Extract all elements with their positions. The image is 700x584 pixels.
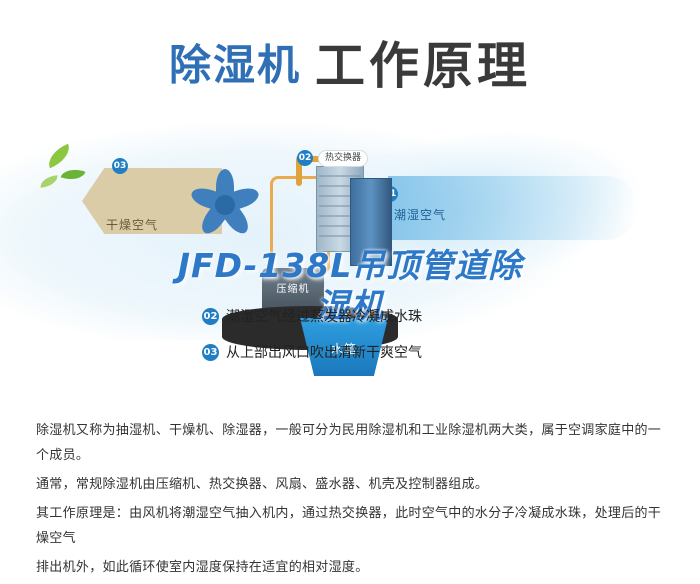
principle-diagram: 03 干燥空气 01 潮湿空气 [0,0,700,400]
caption-02-text: 潮湿空气经过蒸发器冷凝成水珠 [226,309,422,325]
heat-exchanger-tag: 热交换器 [318,150,368,167]
marker-03-badge: 03 [112,158,128,174]
fan-icon [186,165,264,243]
humid-air-label: 潮湿空气 [394,206,446,223]
leaf-icon [61,165,86,184]
caption-03-text: 从上部出风口吹出清新干爽空气 [226,345,422,361]
caption-03: 03从上部出风口吹出清新干爽空气 [202,342,422,362]
hero-illustration: 除湿机工作原理 03 干燥空气 01 潮湿空气 [0,0,700,400]
evaporator-icon [350,178,392,266]
caption-02: 02潮湿空气经过蒸发器冷凝成水珠 [202,306,422,326]
description-paragraph-1: 除湿机又称为抽湿机、干燥机、除湿器，一般可分为民用除湿机和工业除湿机两大类，属于… [36,418,666,468]
description-paragraph-3: 其工作原理是：由风机将潮湿空气抽入机内，通过热交换器，此时空气中的水分子冷凝成水… [36,501,666,551]
marker-02-badge: 02 [297,150,313,166]
description-paragraph-2: 通常，常规除湿机由压缩机、热交换器、风扇、盛水器、机壳及控制器组成。 [36,472,666,497]
compressor-label: 压缩机 [268,280,318,295]
description-paragraph-3-text: 由风机将潮湿空气抽入机内，通过热交换器，此时空气中的水分子冷凝成水珠，处理后的干… [36,506,661,546]
caption-03-badge: 03 [202,344,219,361]
caption-02-badge: 02 [202,308,219,325]
leaf-icon [40,175,59,188]
description-paragraph-3-lead: 其工作原理是： [36,506,129,521]
dry-air-label: 干燥空气 [106,216,158,233]
page-root: 除湿机工作原理 03 干燥空气 01 潮湿空气 [0,0,700,566]
leaf-icon [44,144,74,169]
description-paragraph-4: 排出机外，如此循环使室内湿度保持在适宜的相对湿度。 [36,555,666,580]
description-block: 除湿机又称为抽湿机、干燥机、除湿器，一般可分为民用除湿机和工业除湿机两大类，属于… [36,418,666,584]
